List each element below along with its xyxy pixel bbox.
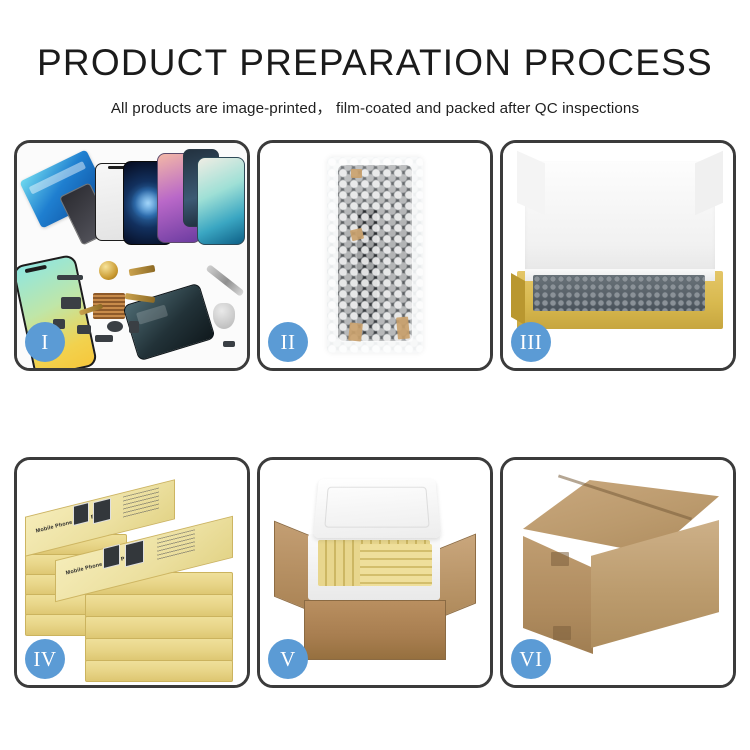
process-step-5: V [257, 457, 493, 688]
step-badge-3: III [511, 322, 551, 362]
part-chip-8 [223, 341, 235, 347]
page-title: PRODUCT PREPARATION PROCESS [0, 0, 750, 83]
foam-lid-open-icon [313, 479, 441, 538]
phone-display-teal-icon [197, 157, 245, 245]
screwdriver-icon [206, 264, 245, 297]
tape-piece-1 [351, 169, 362, 178]
step-badge-5: V [268, 639, 308, 679]
bubble-wrap-package [327, 157, 423, 353]
step-badge-2: II [268, 322, 308, 362]
box-art-screen-f1 [103, 544, 120, 569]
box-art-screen-b1 [73, 502, 89, 526]
step-badge-4: IV [25, 639, 65, 679]
poster-root: PRODUCT PREPARATION PROCESS All products… [0, 0, 750, 750]
process-step-4: Mobile Phone Spare Parts Mobile Phone Sp… [14, 457, 250, 688]
process-step-1: I [14, 140, 250, 371]
carton-tab-lower [553, 626, 571, 640]
carton-tab-upper [551, 552, 569, 566]
process-grid: I II [14, 140, 736, 688]
tool-tip-icon [213, 303, 235, 329]
part-chip-1 [57, 275, 83, 280]
part-chip-6 [129, 321, 139, 333]
part-chip-4 [77, 325, 91, 334]
process-step-3: III [500, 140, 736, 371]
carton-body-icon [304, 600, 446, 660]
part-chip-7 [95, 335, 113, 342]
process-step-2: II [257, 140, 493, 371]
part-chip-2 [61, 297, 81, 309]
stack-box-r2 [85, 594, 233, 618]
process-step-6: VI [500, 457, 736, 688]
stack-box-r3 [85, 616, 233, 640]
box-art-screen-f2 [125, 540, 144, 568]
yellow-boxes-bundle-2 [360, 544, 432, 586]
header: PRODUCT PREPARATION PROCESS All products… [0, 0, 750, 118]
flex-cable-1 [129, 265, 156, 276]
step-badge-1: I [25, 322, 65, 362]
speaker-part-icon [99, 261, 118, 280]
stack-box-r4 [85, 638, 233, 662]
part-chip-5 [107, 321, 123, 332]
stack-box-r5 [85, 660, 233, 682]
foam-lid-icon [525, 161, 715, 281]
bubble-wrapped-contents-icon [533, 275, 705, 311]
step-badge-6: VI [511, 639, 551, 679]
box-art-screen-b2 [93, 498, 111, 524]
tape-piece-3 [348, 322, 363, 341]
tape-piece-4 [396, 317, 410, 340]
page-subtitle: All products are image-printed， film-coa… [0, 83, 750, 118]
